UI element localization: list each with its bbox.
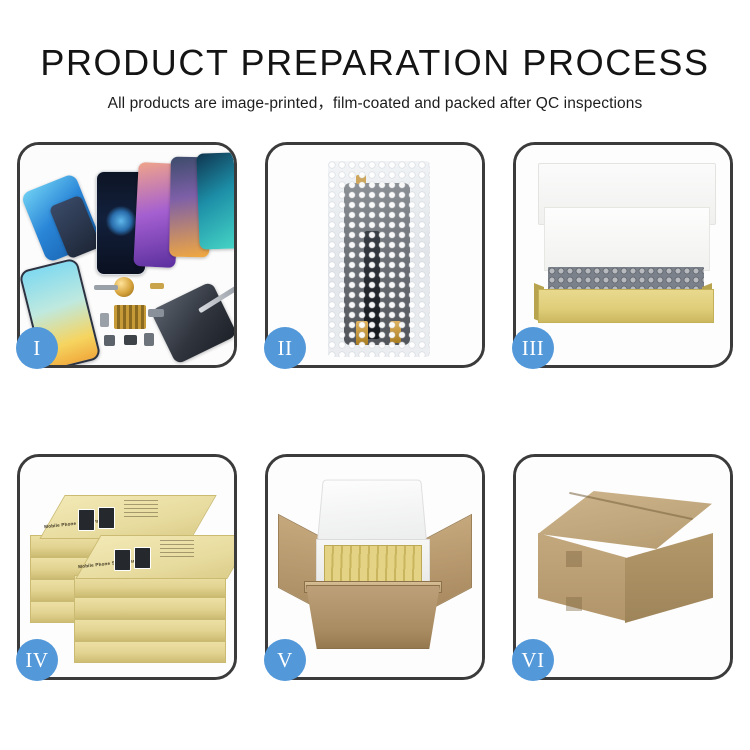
step-badge-5: V: [264, 639, 306, 681]
step-3-image: [516, 145, 730, 365]
carton-top-face-icon: [538, 491, 712, 549]
carton-tape-icon: [566, 551, 582, 567]
process-step-2[interactable]: II: [265, 142, 485, 368]
process-step-6[interactable]: VI: [513, 454, 733, 680]
step-badge-2: II: [264, 327, 306, 369]
step-6-image: [516, 457, 730, 677]
camera-module-icon: [100, 313, 109, 327]
stacked-box: [74, 619, 226, 641]
page-title: PRODUCT PREPARATION PROCESS: [0, 0, 750, 84]
logic-board-icon: [114, 305, 146, 329]
carton-body-icon: [306, 585, 440, 649]
stacked-box: [74, 597, 226, 619]
process-step-grid: I II: [17, 142, 733, 680]
box-spec-lines: [124, 499, 158, 517]
flex-cable-icon: [148, 309, 164, 317]
process-step-4[interactable]: Mobile Phone Spare Parts Mobile Phone Sp…: [17, 454, 237, 680]
speaker-chip-icon: [104, 335, 115, 346]
step-badge-1: I: [16, 327, 58, 369]
sim-tray-icon: [144, 333, 154, 346]
box-artwork-swatch: [134, 547, 151, 569]
foam-lid-icon: [317, 480, 427, 542]
step-badge-6: VI: [512, 639, 554, 681]
stacked-box: [74, 641, 226, 663]
bubble-texture-icon: [328, 161, 430, 357]
process-step-5[interactable]: V: [265, 454, 485, 680]
connector-chip-icon: [94, 285, 118, 290]
step-badge-4: IV: [16, 639, 58, 681]
page-subtitle: All products are image-printed，film-coat…: [0, 84, 750, 114]
box-spec-lines: [160, 539, 194, 557]
process-step-3[interactable]: III: [513, 142, 733, 368]
box-artwork-swatch: [78, 509, 95, 531]
process-step-1[interactable]: I: [17, 142, 237, 368]
box-front-icon: [538, 289, 714, 323]
box-artwork-swatch: [98, 507, 115, 529]
vibrator-chip-icon: [124, 335, 137, 345]
box-artwork-swatch: [114, 549, 131, 571]
carton-tape-icon: [566, 597, 582, 611]
bracket-chip-icon: [150, 283, 164, 289]
page-header: PRODUCT PREPARATION PROCESS All products…: [0, 0, 750, 114]
carton-left-face-icon: [538, 533, 626, 621]
foam-sheet-icon: [544, 207, 710, 271]
bubble-bag-icon: [328, 161, 430, 357]
step-badge-3: III: [512, 327, 554, 369]
printed-box-top: [75, 535, 234, 579]
step-1-image: [20, 145, 234, 365]
step-4-image: Mobile Phone Spare Parts Mobile Phone Sp…: [20, 457, 234, 677]
step-5-image: [268, 457, 482, 677]
phone-teal-icon: [196, 152, 234, 249]
step-2-image: [268, 145, 482, 365]
